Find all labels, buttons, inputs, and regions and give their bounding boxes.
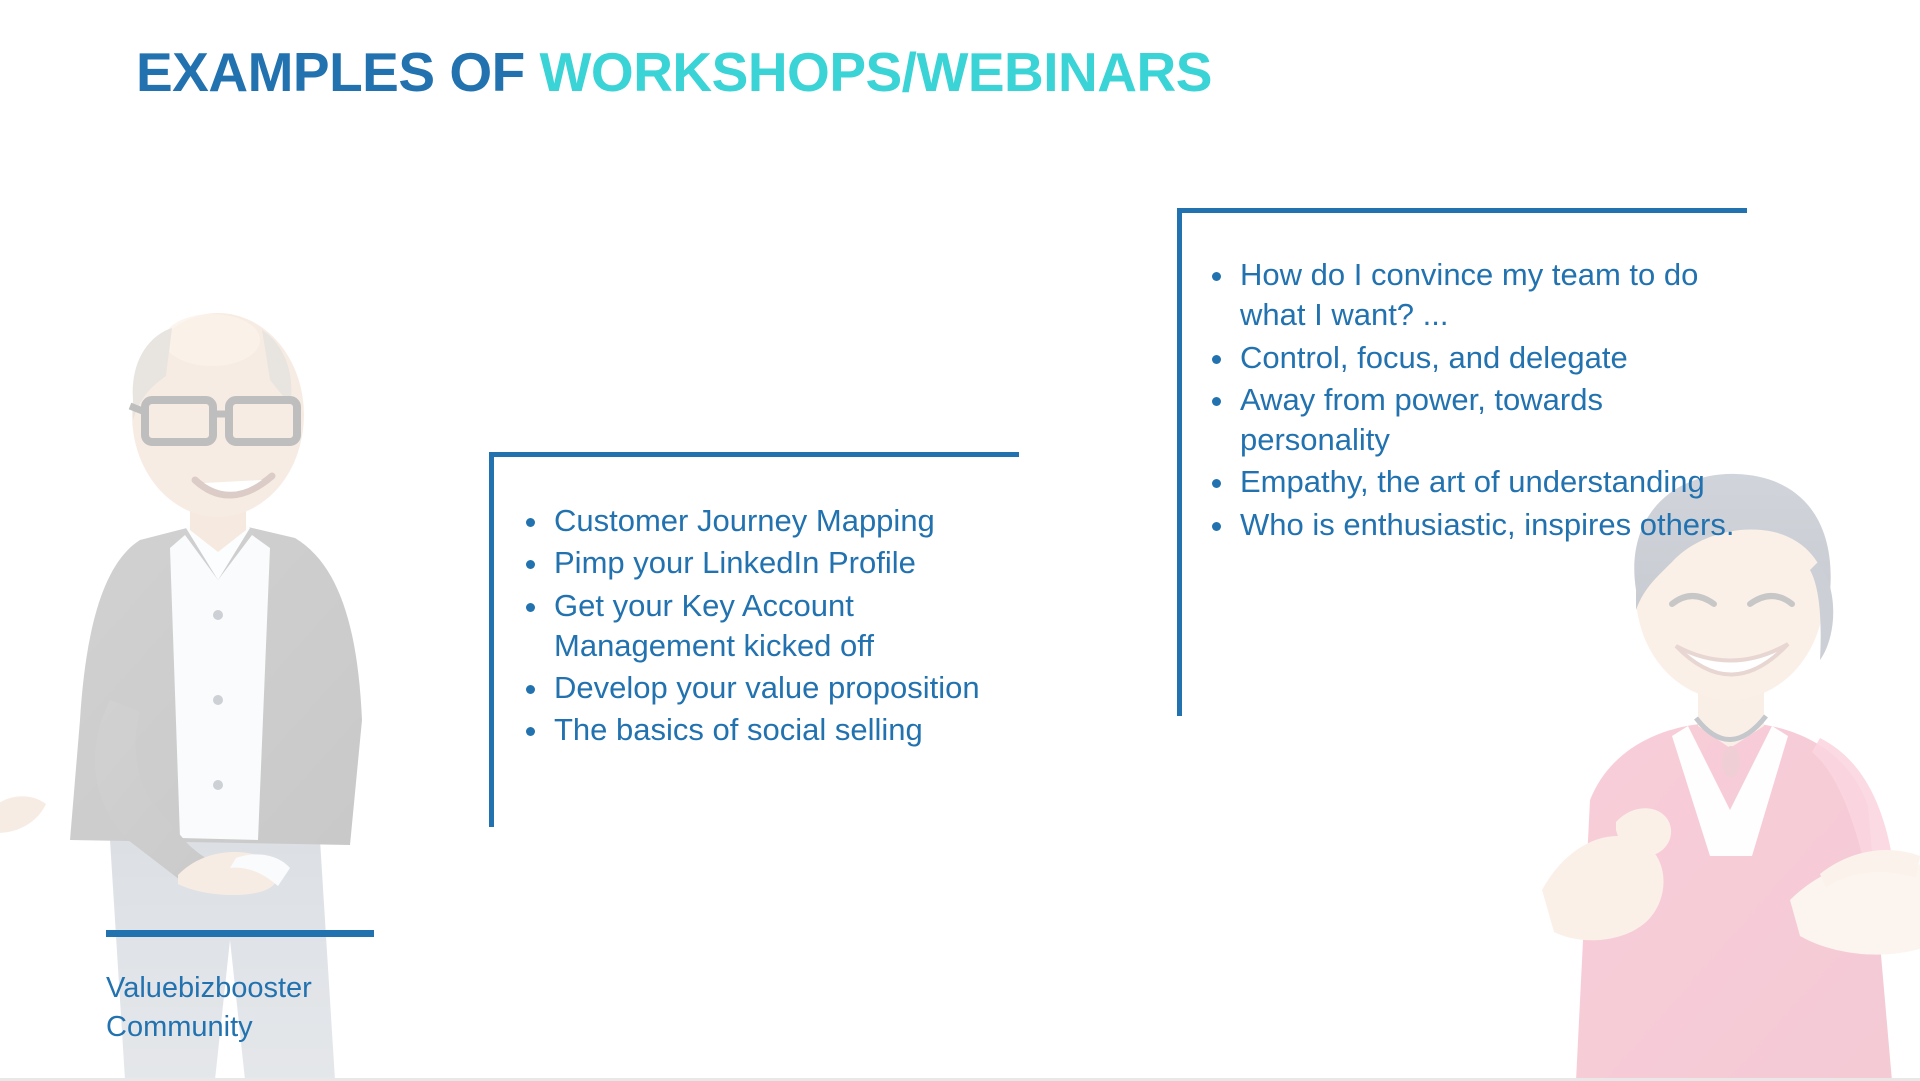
list-item: Empathy, the art of understanding: [1204, 462, 1747, 502]
page-title-part-one: EXAMPLES OF: [136, 41, 540, 103]
page-title: EXAMPLES OF WORKSHOPS/WEBINARS: [136, 42, 1212, 103]
list-item: Away from power, towards personality: [1204, 380, 1747, 461]
bullet-list-left: Customer Journey Mapping Pimp your Linke…: [494, 457, 1019, 751]
list-item: Customer Journey Mapping: [518, 501, 1019, 541]
brand-name: Valuebizbooster Community: [106, 969, 386, 1047]
list-item: Develop your value proposition: [518, 668, 1019, 708]
brand-divider: [106, 930, 374, 937]
list-item: Pimp your LinkedIn Profile: [518, 543, 1019, 583]
page-title-part-two: WORKSHOPS/WEBINARS: [540, 41, 1212, 103]
bullet-list-right: How do I convince my team to do what I w…: [1182, 213, 1747, 545]
list-item: Who is enthusiastic, inspires others.: [1204, 505, 1747, 545]
brand-block: Valuebizbooster Community: [106, 930, 386, 1047]
bullet-box-left: Customer Journey Mapping Pimp your Linke…: [489, 452, 1019, 827]
list-item: Control, focus, and delegate: [1204, 338, 1747, 378]
list-item: The basics of social selling: [518, 710, 1019, 750]
bullet-box-right: How do I convince my team to do what I w…: [1177, 208, 1747, 716]
slide-canvas: EXAMPLES OF WORKSHOPS/WEBINARS: [0, 0, 1920, 1081]
list-item: How do I convince my team to do what I w…: [1204, 255, 1747, 336]
list-item: Get your Key Account Management kicked o…: [518, 586, 1019, 667]
